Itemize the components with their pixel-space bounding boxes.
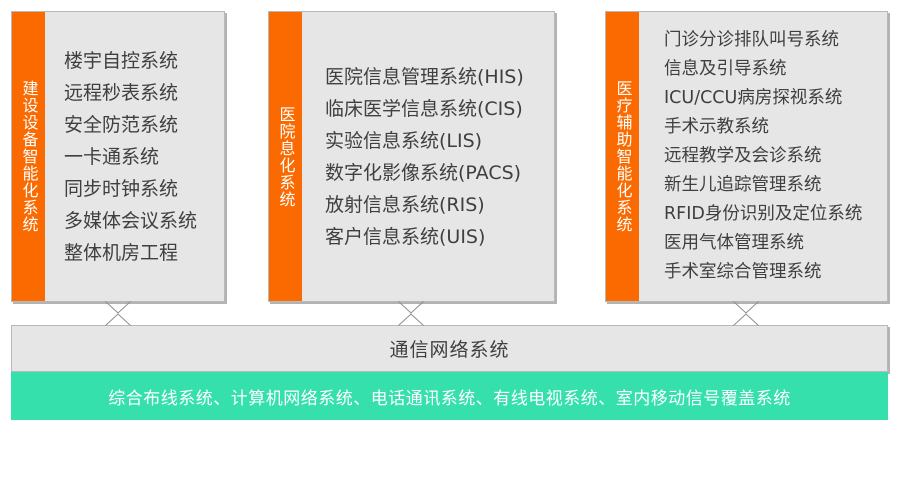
list-item[interactable]: 多媒体会议系统 [64,205,218,237]
communication-network-detail-bar[interactable]: 综合布线系统、计算机网络系统、电话通讯系统、有线电视系统、室内移动信号覆盖系统 [11,372,888,420]
list-item[interactable]: 门诊分诊排队叫号系统 [664,26,881,55]
column-1-item-list: 楼宇自控系统 远程秒表系统 安全防范系统 一卡通系统 同步时钟系统 多媒体会议系… [45,12,224,301]
list-item[interactable]: 医用气体管理系统 [664,229,881,258]
list-item[interactable]: 一卡通系统 [64,141,218,173]
list-item[interactable]: 客户信息系统(UIS) [325,221,548,253]
list-item[interactable]: 整体机房工程 [64,237,218,269]
communication-network-bar[interactable]: 通信网络系统 [11,325,888,372]
connector-notch-icon-1 [105,301,131,314]
column-1-label-text: 建设设备智能化系统 [19,80,39,233]
column-2-label-text: 医院息化系统 [276,106,296,208]
connector-notch-icon-3 [733,301,759,314]
list-item[interactable]: 远程教学及会诊系统 [664,142,881,171]
list-item[interactable]: 手术示教系统 [664,113,881,142]
list-item[interactable]: 实验信息系统(LIS) [325,125,548,157]
list-item[interactable]: 放射信息系统(RIS) [325,189,548,221]
column-1-label-bar: 建设设备智能化系统 [12,12,45,301]
list-item[interactable]: ICU/CCU病房探视系统 [664,84,881,113]
list-item[interactable]: 临床医学信息系统(CIS) [325,93,548,125]
list-item[interactable]: 医院信息管理系统(HIS) [325,61,548,93]
system-group-column-2[interactable]: 医院息化系统 医院信息管理系统(HIS) 临床医学信息系统(CIS) 实验信息系… [268,11,555,302]
column-2-item-list: 医院信息管理系统(HIS) 临床医学信息系统(CIS) 实验信息系统(LIS) … [302,12,554,301]
list-item[interactable]: 数字化影像系统(PACS) [325,157,548,189]
list-item[interactable]: 新生儿追踪管理系统 [664,171,881,200]
system-group-column-3[interactable]: 医疗辅助智能化系统 门诊分诊排队叫号系统 信息及引导系统 ICU/CCU病房探视… [605,11,888,302]
list-item[interactable]: 手术室综合管理系统 [664,258,881,287]
list-item[interactable]: 安全防范系统 [64,109,218,141]
list-item[interactable]: 远程秒表系统 [64,77,218,109]
list-item[interactable]: 同步时钟系统 [64,173,218,205]
column-3-label-text: 医疗辅助智能化系统 [613,80,633,233]
list-item[interactable]: RFID身份识别及定位系统 [664,200,881,229]
column-3-label-bar: 医疗辅助智能化系统 [606,12,639,301]
column-2-label-bar: 医院息化系统 [269,12,302,301]
hospital-intelligent-system-diagram: 建设设备智能化系统 楼宇自控系统 远程秒表系统 安全防范系统 一卡通系统 同步时… [0,0,900,477]
communication-network-detail-text: 综合布线系统、计算机网络系统、电话通讯系统、有线电视系统、室内移动信号覆盖系统 [108,384,791,409]
communication-network-title: 通信网络系统 [389,335,509,362]
connector-notch-icon-2 [398,301,424,314]
list-item[interactable]: 信息及引导系统 [664,55,881,84]
system-group-column-1[interactable]: 建设设备智能化系统 楼宇自控系统 远程秒表系统 安全防范系统 一卡通系统 同步时… [11,11,225,302]
column-3-item-list: 门诊分诊排队叫号系统 信息及引导系统 ICU/CCU病房探视系统 手术示教系统 … [639,12,887,301]
list-item[interactable]: 楼宇自控系统 [64,45,218,77]
